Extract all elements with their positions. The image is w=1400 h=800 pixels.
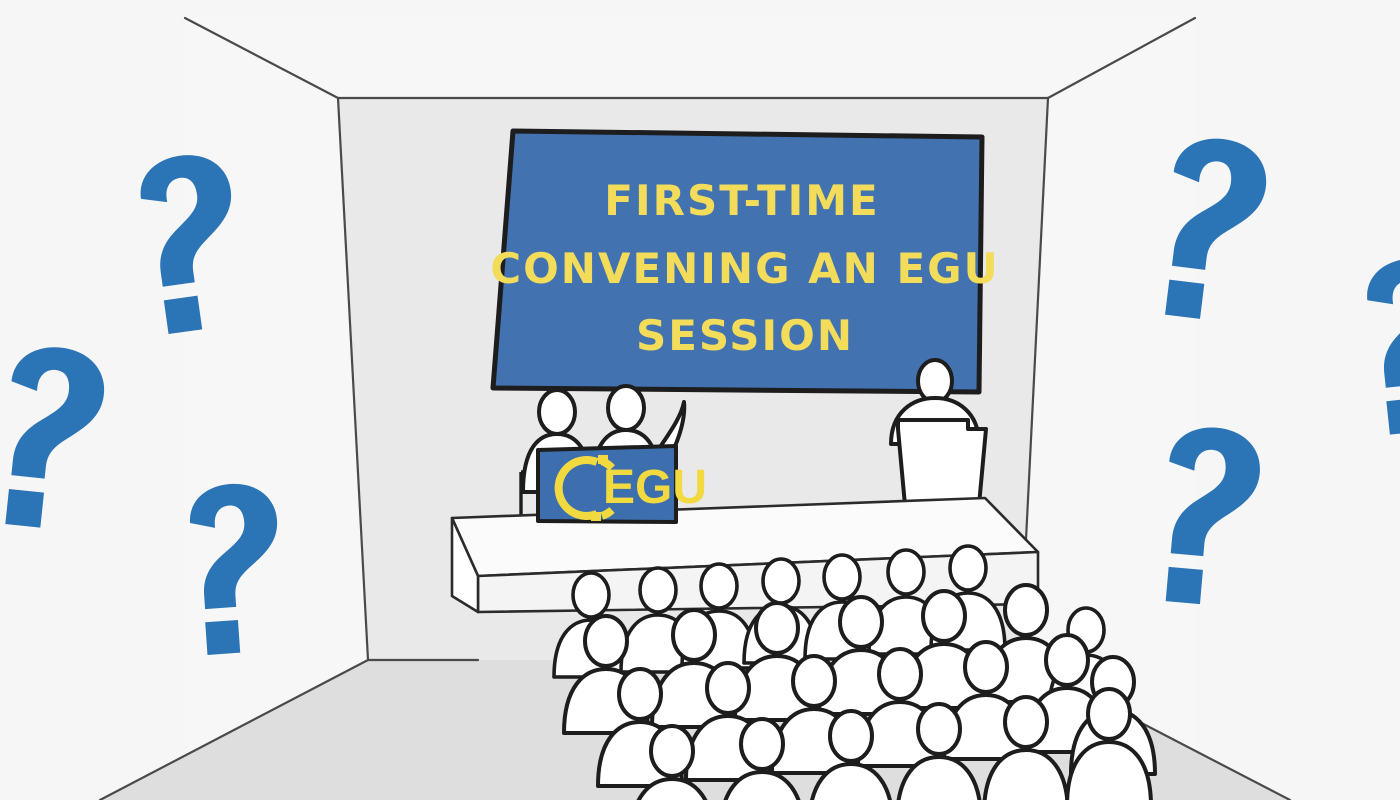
screen-title-line-3: SESSION [636,311,854,360]
screen-title-line-1: FIRST-TIME [604,176,879,225]
screen-title-line-2: CONVENING AN EGU [490,244,999,293]
presentation-screen[interactable]: FIRST-TIME CONVENING AN EGU SESSION [490,131,999,399]
panelist-head [539,390,575,434]
egu-logo-notch-bottom [591,512,601,521]
conference-room-illustration: FIRST-TIME CONVENING AN EGU SESSION [0,0,1400,800]
ceiling-plane [185,18,1195,98]
illustration-canvas: FIRST-TIME CONVENING AN EGU SESSION [0,0,1400,800]
speaker-head [918,360,952,402]
panelist-head [608,386,644,430]
egu-logo-text: EGU [603,461,707,514]
